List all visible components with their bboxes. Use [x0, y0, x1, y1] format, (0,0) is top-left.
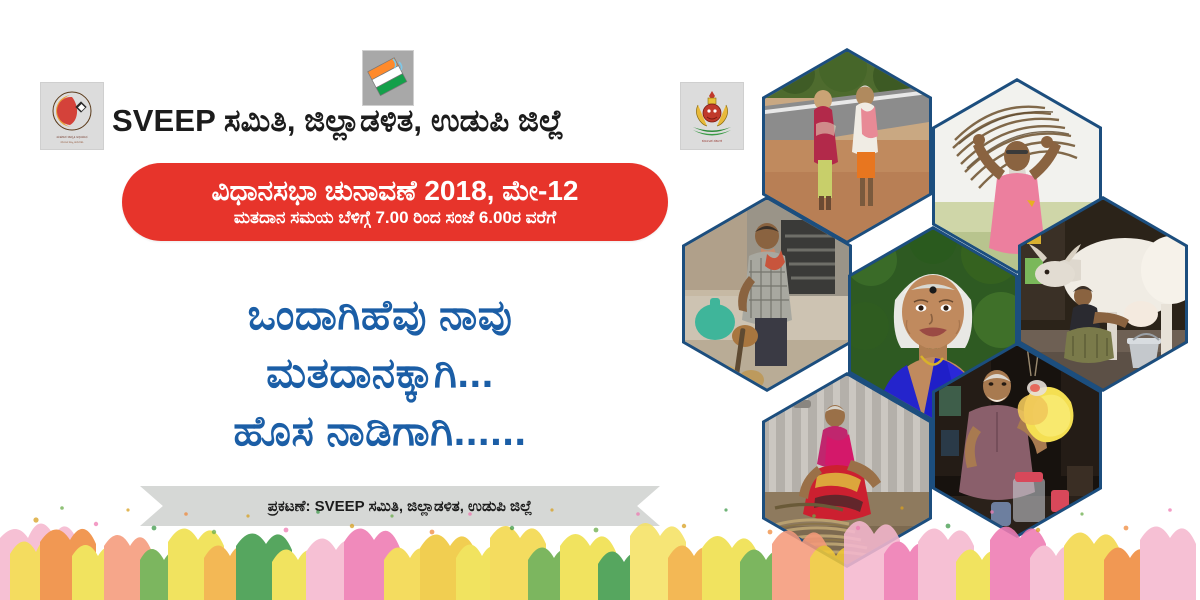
election-date-banner: ವಿಧಾನಸಭಾ ಚುನಾವಣೆ 2018, ಮೇ-12 ಮತದಾನ ಸಮಯ ಬ…: [122, 163, 668, 241]
svg-text:ಕರ್ನಾಟಕ ರಾಜ್ಯ ಚುನಾವಣಾ: ಕರ್ನಾಟಕ ರಾಜ್ಯ ಚುನಾವಣಾ: [61, 141, 84, 144]
slogan-line-2: ಮತದಾನಕ್ಕಾಗಿ...: [0, 344, 760, 402]
sveep-election-awareness-poster: ಮತದಾರ ಜಾಗೃತಿ ಅಭಿಯಾನ ಕರ್ನಾಟಕ ರಾಜ್ಯ ಚುನಾವಣ…: [0, 0, 1200, 600]
campaign-slogan: ಒಂದಾಗಿಹೆವು ನಾವು ಮತದಾನಕ್ಕಾಗಿ... ಹೊಸ ನಾಡಿಗ…: [0, 286, 760, 460]
voting-hours-line: ಮತದಾನ ಸಮಯ ಬೆಳಿಗ್ಗೆ 7.00 ರಿಂದ ಸಂಜೆ 6.00ರ …: [234, 208, 556, 228]
slogan-line-1: ಒಂದಾಗಿಹೆವು ನಾವು: [0, 286, 760, 344]
left-content-panel: ಮತದಾರ ಜಾಗೃತಿ ಅಭಿಯಾನ ಕರ್ನಾಟಕ ರಾಜ್ಯ ಚುನಾವಣ…: [0, 0, 760, 600]
election-date-line: ವಿಧಾನಸಭಾ ಚುನಾವಣೆ 2018, ಮೇ-12: [211, 176, 578, 205]
publisher-ribbon-label: ಪ್ರಕಟಣೆ: SVEEP ಸಮಿತಿ, ಜಿಲ್ಲಾಡಳಿತ, ಉಡುಪಿ …: [140, 486, 660, 526]
sveep-karnataka-logo-icon: ಮತದಾರ ಜಾಗೃತಿ ಅಭಿಯಾನ ಕರ್ನಾಟಕ ರಾಜ್ಯ ಚುನಾವಣ…: [40, 82, 104, 150]
svg-text:ಕರ್ನಾಟಕ ಸರ್ಕಾರ: ಕರ್ನಾಟಕ ಸರ್ಕಾರ: [702, 139, 722, 143]
photo-collage: [740, 0, 1200, 600]
page-title: SVEEP ಸಮಿತಿ, ಜಿಲ್ಲಾಡಳಿತ, ಉಡುಪಿ ಜಿಲ್ಲೆ: [112, 96, 692, 146]
slogan-line-3: ಹೊಸ ನಾಡಿಗಾಗಿ......: [0, 402, 760, 460]
